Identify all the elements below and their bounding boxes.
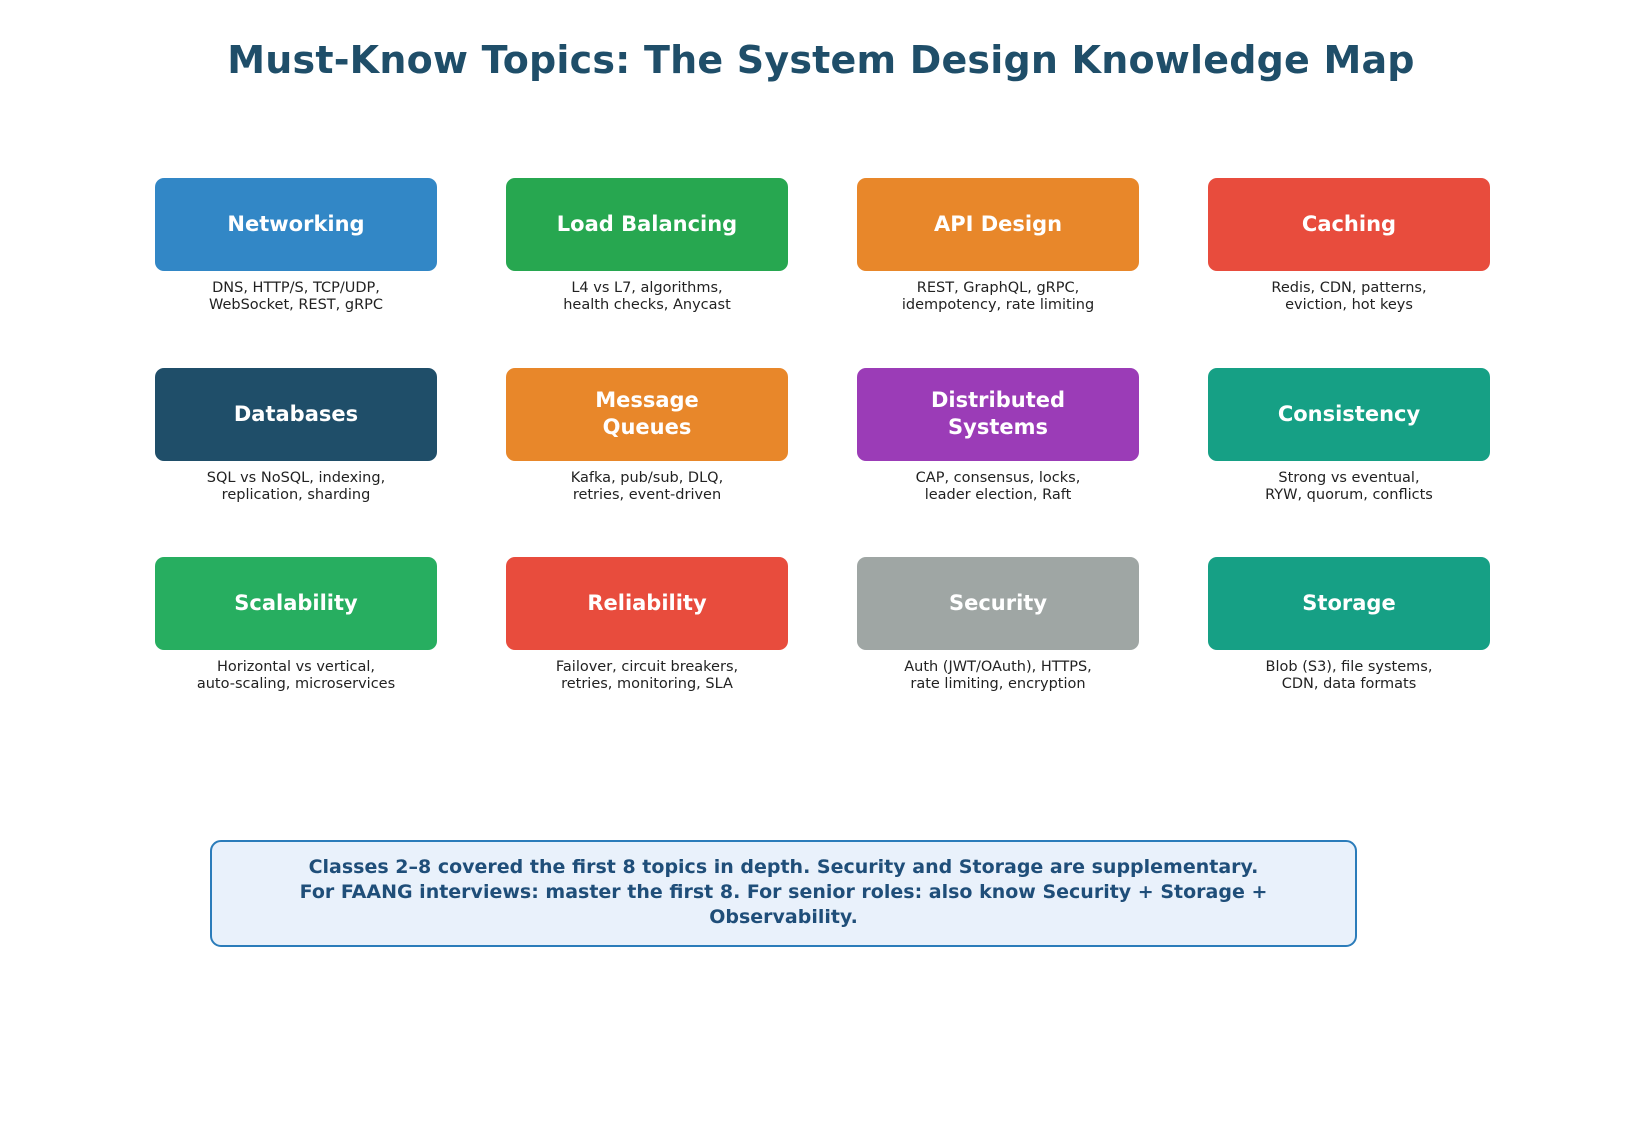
topic-card-databases[interactable]: Databases [155, 368, 437, 461]
topic-row-1: Networking DNS, HTTP/S, TCP/UDP, WebSock… [155, 178, 1490, 315]
topic-card-reliability[interactable]: Reliability [506, 557, 788, 650]
topic-card-description: REST, GraphQL, gRPC, idempotency, rate l… [902, 280, 1094, 315]
page-title: Must-Know Topics: The System Design Know… [0, 38, 1642, 82]
topic-cell-scalability: Scalability Horizontal vs vertical, auto… [155, 557, 437, 694]
topic-card-title: Networking [227, 211, 364, 238]
topic-card-security[interactable]: Security [857, 557, 1139, 650]
topic-card-caching[interactable]: Caching [1208, 178, 1490, 271]
footer-note-line-1: Classes 2–8 covered the first 8 topics i… [230, 855, 1337, 880]
topic-card-description: Strong vs eventual, RYW, quorum, conflic… [1265, 470, 1433, 505]
topic-card-description: Kafka, pub/sub, DLQ, retries, event-driv… [571, 470, 723, 505]
topic-row-3: Scalability Horizontal vs vertical, auto… [155, 557, 1490, 694]
topic-card-title: Security [949, 590, 1047, 617]
topic-cell-message-queues: Message Queues Kafka, pub/sub, DLQ, retr… [506, 368, 788, 505]
topic-card-description: DNS, HTTP/S, TCP/UDP, WebSocket, REST, g… [209, 280, 383, 315]
topic-card-title: Load Balancing [557, 211, 737, 238]
topic-card-description: Blob (S3), file systems, CDN, data forma… [1266, 659, 1433, 694]
topic-card-storage[interactable]: Storage [1208, 557, 1490, 650]
topic-card-title: Caching [1302, 211, 1396, 238]
topic-cell-storage: Storage Blob (S3), file systems, CDN, da… [1208, 557, 1490, 694]
topic-cell-api-design: API Design REST, GraphQL, gRPC, idempote… [857, 178, 1139, 315]
topic-cell-networking: Networking DNS, HTTP/S, TCP/UDP, WebSock… [155, 178, 437, 315]
topic-card-description: Auth (JWT/OAuth), HTTPS, rate limiting, … [904, 659, 1092, 694]
topic-cell-security: Security Auth (JWT/OAuth), HTTPS, rate l… [857, 557, 1139, 694]
topic-card-api-design[interactable]: API Design [857, 178, 1139, 271]
topic-card-title: Consistency [1278, 401, 1420, 428]
footer-note-line-2: For FAANG interviews: master the first 8… [230, 880, 1337, 930]
topic-card-title: Storage [1302, 590, 1395, 617]
topic-card-description: L4 vs L7, algorithms, health checks, Any… [563, 280, 731, 315]
topic-card-title: Message Queues [595, 387, 699, 441]
topic-cell-distributed-systems: Distributed Systems CAP, consensus, lock… [857, 368, 1139, 505]
topic-cell-databases: Databases SQL vs NoSQL, indexing, replic… [155, 368, 437, 505]
topic-card-load-balancing[interactable]: Load Balancing [506, 178, 788, 271]
topic-card-description: Redis, CDN, patterns, eviction, hot keys [1271, 280, 1426, 315]
footer-callout: Classes 2–8 covered the first 8 topics i… [210, 840, 1357, 947]
topic-card-title: Databases [234, 401, 358, 428]
topic-card-title: API Design [934, 211, 1062, 238]
topic-card-title: Scalability [234, 590, 357, 617]
topic-card-consistency[interactable]: Consistency [1208, 368, 1490, 461]
topic-cell-caching: Caching Redis, CDN, patterns, eviction, … [1208, 178, 1490, 315]
topic-cell-consistency: Consistency Strong vs eventual, RYW, quo… [1208, 368, 1490, 505]
topic-card-description: Failover, circuit breakers, retries, mon… [556, 659, 738, 694]
topic-card-title: Reliability [587, 590, 706, 617]
topic-row-2: Databases SQL vs NoSQL, indexing, replic… [155, 368, 1490, 505]
topic-card-networking[interactable]: Networking [155, 178, 437, 271]
topic-card-description: Horizontal vs vertical, auto-scaling, mi… [197, 659, 395, 694]
topic-card-message-queues[interactable]: Message Queues [506, 368, 788, 461]
topic-grid: Networking DNS, HTTP/S, TCP/UDP, WebSock… [155, 178, 1490, 747]
topic-card-description: SQL vs NoSQL, indexing, replication, sha… [207, 470, 385, 505]
topic-cell-reliability: Reliability Failover, circuit breakers, … [506, 557, 788, 694]
topic-cell-load-balancing: Load Balancing L4 vs L7, algorithms, hea… [506, 178, 788, 315]
topic-card-description: CAP, consensus, locks, leader election, … [916, 470, 1081, 505]
topic-card-title: Distributed Systems [931, 387, 1065, 441]
topic-card-scalability[interactable]: Scalability [155, 557, 437, 650]
topic-card-distributed-systems[interactable]: Distributed Systems [857, 368, 1139, 461]
